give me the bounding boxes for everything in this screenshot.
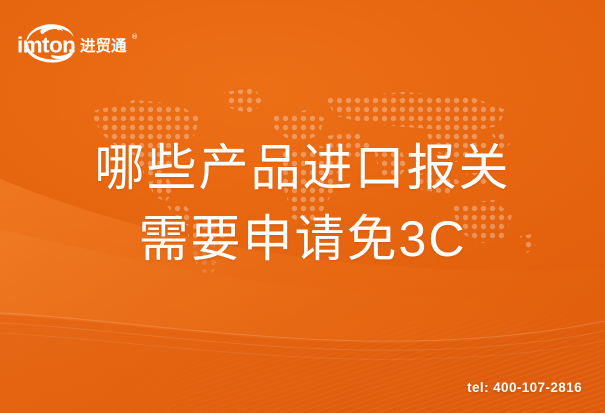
logo-chinese-name: 进贸通 <box>80 36 127 55</box>
promo-banner: imton 进贸通 ® 哪些产品进口报关 需要申请免3C tel: 400-10… <box>0 0 605 413</box>
headline-line-2: 需要申请免3C <box>0 214 605 264</box>
contact-phone[interactable]: tel: 400-107-2816 <box>467 380 582 395</box>
logo-wordmark: imton <box>17 33 75 58</box>
registered-trademark-icon: ® <box>131 33 138 41</box>
brand-logo[interactable]: imton 进贸通 ® <box>14 19 146 69</box>
page-title: 哪些产品进口报关 需要申请免3C <box>0 143 605 264</box>
headline-line-1: 哪些产品进口报关 <box>0 143 605 193</box>
